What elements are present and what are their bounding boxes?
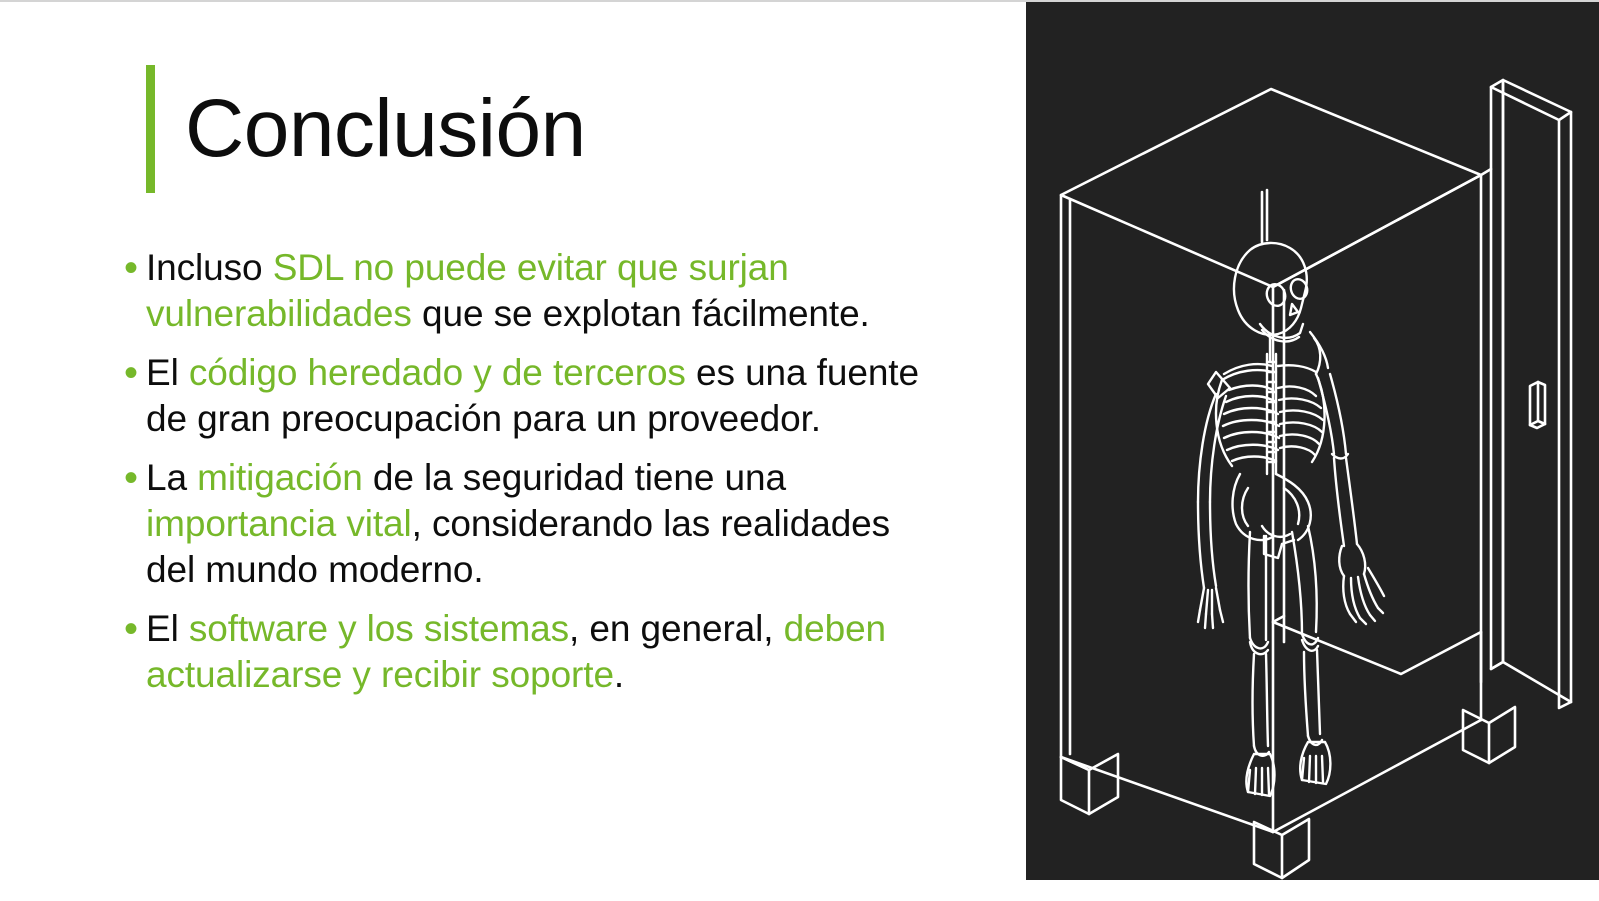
bullet-item: •La mitigación de la seguridad tiene una… (120, 455, 920, 593)
bullet-text-segment: mitigación (197, 457, 363, 498)
bullet-text-segment: software y los sistemas (189, 608, 569, 649)
page-title: Conclusión (155, 65, 586, 193)
bullet-text-segment: código heredado y de terceros (189, 352, 686, 393)
bullet-list: •Incluso SDL no puede evitar que surjan … (120, 245, 920, 711)
slide-content-area: Conclusión •Incluso SDL no puede evitar … (0, 2, 1026, 901)
image-panel (1026, 2, 1599, 880)
bullet-item: •El código heredado y de terceros es una… (120, 350, 920, 442)
bullet-text-segment: . (614, 654, 624, 695)
bullet-text: El software y los sistemas, en general, … (146, 606, 920, 698)
title-accent-bar (146, 65, 155, 193)
bullet-text-segment: El (146, 608, 189, 649)
bullet-item: •Incluso SDL no puede evitar que surjan … (120, 245, 920, 337)
bullet-text: Incluso SDL no puede evitar que surjan v… (146, 245, 920, 337)
bullet-text-segment: de la seguridad tiene una (363, 457, 786, 498)
bullet-text-segment: que se explotan fácilmente. (412, 293, 870, 334)
bullet-text-segment: El (146, 352, 189, 393)
skeleton-in-locker-illustration (1026, 2, 1599, 880)
bullet-marker-icon: • (120, 606, 146, 652)
bullet-text-segment: , en general, (569, 608, 784, 649)
bullet-text: La mitigación de la seguridad tiene una … (146, 455, 920, 593)
title-block: Conclusión (146, 65, 586, 193)
bullet-marker-icon: • (120, 245, 146, 291)
bullet-text-segment: Incluso (146, 247, 273, 288)
bullet-item: •El software y los sistemas, en general,… (120, 606, 920, 698)
presentation-slide: Conclusión •Incluso SDL no puede evitar … (0, 0, 1599, 899)
bullet-marker-icon: • (120, 350, 146, 396)
bullet-text-segment: La (146, 457, 197, 498)
bullet-text: El código heredado y de terceros es una … (146, 350, 920, 442)
bullet-text-segment: importancia vital (146, 503, 412, 544)
bullet-marker-icon: • (120, 455, 146, 501)
